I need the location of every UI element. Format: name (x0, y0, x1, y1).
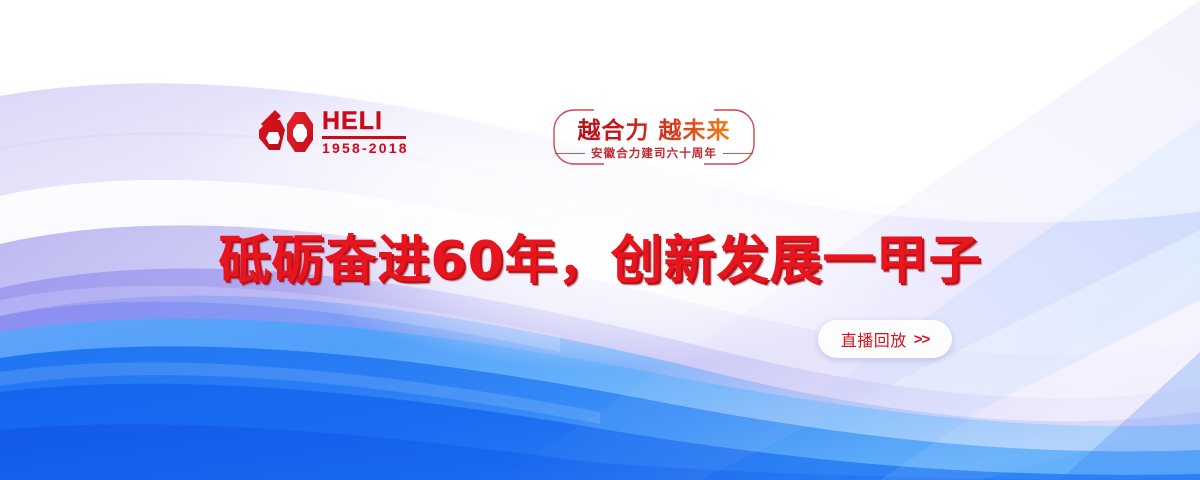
heli-year-range: 1958-2018 (322, 141, 409, 155)
double-chevron-right-icon: >> (914, 331, 930, 348)
anniversary-emblem: 越合力 越未来 安徽合力建司六十周年 (548, 104, 760, 172)
anniversary-banner: HELI 1958-2018 越合力 越未来 安徽合力建司六十周年 砥砺奋进60… (0, 0, 1200, 480)
heli-brand-name: HELI (322, 109, 383, 134)
emblem-slogan: 越合力 越未来 (548, 111, 760, 145)
banner-headline: 砥砺奋进60年，创新发展一甲子 (0, 218, 1200, 293)
live-replay-label: 直播回放 (841, 327, 907, 351)
subtitle-rule-left (555, 153, 585, 154)
live-replay-button[interactable]: 直播回放 >> (818, 320, 952, 358)
anniversary-60-icon (255, 108, 313, 156)
heli-divider-rule (322, 136, 406, 139)
emblem-subtitle: 安徽合力建司六十周年 (591, 145, 717, 161)
heli-logo: HELI 1958-2018 (255, 108, 409, 156)
heli-wordmark: HELI 1958-2018 (322, 109, 409, 155)
emblem-subtitle-row: 安徽合力建司六十周年 (548, 145, 760, 161)
subtitle-rule-right (723, 153, 753, 154)
